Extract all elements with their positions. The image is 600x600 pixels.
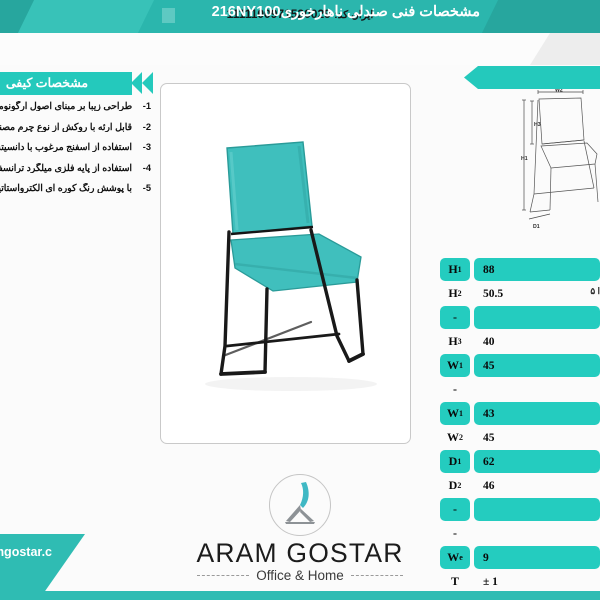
table-cell-key: D1 (440, 450, 470, 473)
table-cell-key: W1 (440, 354, 470, 377)
table-row: - (440, 306, 600, 329)
dining-chair-photo (161, 84, 410, 443)
table-cell-value: 9 (474, 546, 600, 569)
list-item-label: استفاده از اسفنج مرغوب با دانسیته مناسب (0, 142, 136, 152)
table-cell-value: 40 (474, 330, 600, 353)
website-url[interactable]: www.aramgostar.com (0, 545, 52, 559)
table-row: W1 45 (440, 354, 600, 377)
table-cell-key: D2 (440, 474, 470, 497)
key-subscript: 2 (457, 481, 461, 490)
list-item-number: -2 (136, 122, 151, 132)
table-cell-value: 62 (474, 450, 600, 473)
list-item: -4 استفاده از پایه فلزی میلگرد ترانسفورم… (0, 163, 151, 173)
page-title-text: مشخصات فنی صندلی ناهارخوری (281, 4, 480, 20)
table-cell-value (474, 378, 600, 401)
svg-text:H3: H3 (534, 122, 541, 128)
table-cell-key: W2 (440, 426, 470, 449)
list-item: -3 استفاده از اسفنج مرغوب با دانسیته منا… (0, 142, 151, 152)
table-cell-key: - (440, 378, 470, 401)
table-cell-key: H2 (440, 282, 470, 305)
list-item-label: قابل ارئه با روکش از نوع چرم مصنوعی و پا… (0, 122, 136, 132)
svg-text:H1: H1 (521, 156, 528, 162)
qualitative-panel-header: مشخصات کیفی (0, 72, 132, 95)
table-row: - (440, 498, 600, 521)
table-cell-key: We (440, 546, 470, 569)
square-icon (162, 8, 175, 23)
table-cell-key: - (440, 306, 470, 329)
key-subscript: 2 (458, 289, 462, 298)
table-cell-value: 43 (474, 402, 600, 425)
key-subscript: 2 (459, 433, 463, 442)
table-cell-key: - (440, 498, 470, 521)
table-cell-value (474, 306, 600, 329)
key-subscript: e (459, 553, 463, 562)
table-cell-value: 45 (474, 354, 600, 377)
spec-sheet: مشخصات فنی صندلی ناهارخوری216NY100 ایران… (0, 0, 600, 600)
table-cell-value: 45 (474, 426, 600, 449)
qualitative-list: -1 طراحی زیبا بر مبنای اصول ارگونومی -2 … (0, 101, 151, 204)
table-cell-key: H1 (440, 258, 470, 281)
drawing-panel-header (464, 66, 600, 89)
page-title: مشخصات فنی صندلی ناهارخوری216NY100 (212, 4, 480, 20)
qualitative-panel-title: مشخصات کیفی (0, 75, 102, 90)
table-row: W1 43 (440, 402, 600, 425)
model-code: 216NY100 (212, 4, 281, 20)
table-cell-key: H3 (440, 330, 470, 353)
key-subscript: 1 (458, 265, 462, 274)
logo-tagline-row: Office & Home (175, 568, 425, 583)
table-cell-key: W1 (440, 402, 470, 425)
double-chevron-left-icon (131, 72, 142, 94)
list-item-label: طراحی زیبا بر مبنای اصول ارگونومی (0, 101, 136, 111)
table-cell-value (474, 522, 600, 545)
spec-table: H1 88 H2 50.5 - H3 40 W1 45 - W1 43 W2 (440, 258, 600, 594)
list-item: -5 با پوشش رنگ کوره ای الکترواستاتیک (0, 183, 151, 193)
svg-text:D1: D1 (533, 224, 540, 230)
url-banner (0, 534, 85, 592)
logo-rule-right (351, 575, 403, 576)
table-row: H3 40 (440, 330, 600, 353)
table-cell-value (474, 498, 600, 521)
table-row: D2 46 (440, 474, 600, 497)
logo-rule-left (197, 575, 249, 576)
table-row: H1 88 (440, 258, 600, 281)
technical-drawing: H1 H3 W2 D1 (521, 88, 600, 243)
table-row: T ± 1 (440, 570, 600, 593)
key-subscript: 1 (459, 409, 463, 418)
chair-monogram-icon (269, 474, 331, 536)
table-row: - (440, 378, 600, 401)
brand-logo: ARAM GOSTAR Office & Home (175, 474, 425, 592)
key-subscript: 1 (459, 361, 463, 370)
table-cell-key: - (440, 522, 470, 545)
logo-tagline: Office & Home (256, 568, 344, 583)
list-item-number: -3 (136, 142, 151, 152)
table-cell-value: 46 (474, 474, 600, 497)
list-item-number: -5 (136, 183, 151, 193)
list-item-number: -4 (136, 163, 151, 173)
list-item: -1 طراحی زیبا بر مبنای اصول ارگونومی (0, 101, 151, 111)
table-edge-note: ا ۵ (576, 286, 600, 297)
list-item-label: استفاده از پایه فلزی میلگرد ترانسفورم شد… (0, 163, 136, 173)
table-row: - (440, 522, 600, 545)
table-row: D1 62 (440, 450, 600, 473)
double-chevron-left-icon-second (142, 72, 153, 94)
table-cell-value: ± 1 (474, 570, 600, 593)
table-cell-key: T (440, 570, 470, 593)
key-subscript: 1 (457, 457, 461, 466)
list-item-number: -1 (136, 101, 151, 111)
list-item: -2 قابل ارئه با روکش از نوع چرم مصنوعی و… (0, 122, 151, 132)
subheader-wedge-right (190, 33, 550, 65)
table-row: W2 45 (440, 426, 600, 449)
table-cell-value: 88 (474, 258, 600, 281)
key-subscript: 3 (458, 337, 462, 346)
table-row: We 9 (440, 546, 600, 569)
product-photo-frame (160, 83, 411, 444)
logo-name: ARAM GOSTAR (175, 539, 425, 567)
list-item-label: با پوشش رنگ کوره ای الکترواستاتیک (0, 183, 136, 193)
subheader-band (0, 33, 600, 65)
